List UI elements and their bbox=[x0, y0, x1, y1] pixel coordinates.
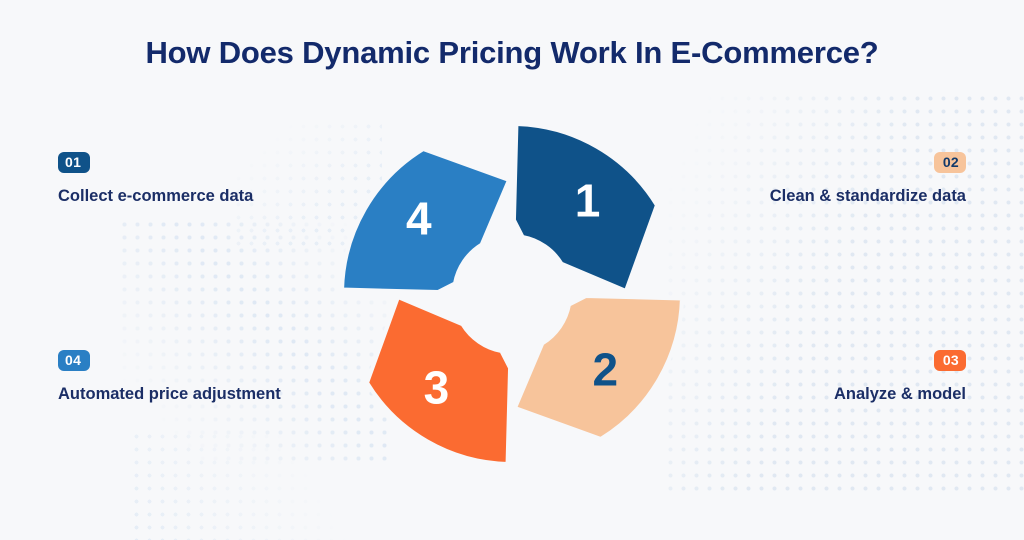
cycle-diagram: 1 2 3 4 bbox=[330, 112, 694, 476]
step-badge-03: 03 bbox=[934, 350, 966, 371]
cycle-number-4: 4 bbox=[406, 192, 432, 244]
step-badge-01: 01 bbox=[58, 152, 90, 173]
cycle-number-1: 1 bbox=[575, 175, 601, 227]
page-title: How Does Dynamic Pricing Work In E-Comme… bbox=[0, 34, 1024, 71]
cycle-number-2: 2 bbox=[592, 344, 618, 396]
step-text-02: Clean & standardize data bbox=[646, 186, 966, 207]
step-badge-04: 04 bbox=[58, 350, 90, 371]
step-badge-02: 02 bbox=[934, 152, 966, 173]
infographic-canvas: How Does Dynamic Pricing Work In E-Comme… bbox=[0, 0, 1024, 538]
cycle-center-hole bbox=[454, 236, 570, 352]
cycle-number-3: 3 bbox=[424, 361, 450, 413]
step-label-02: 02 Clean & standardize data bbox=[646, 152, 966, 207]
step-label-03: 03 Analyze & model bbox=[646, 350, 966, 405]
halftone-dots-bottom-left bbox=[130, 430, 360, 540]
step-text-03: Analyze & model bbox=[646, 384, 966, 405]
